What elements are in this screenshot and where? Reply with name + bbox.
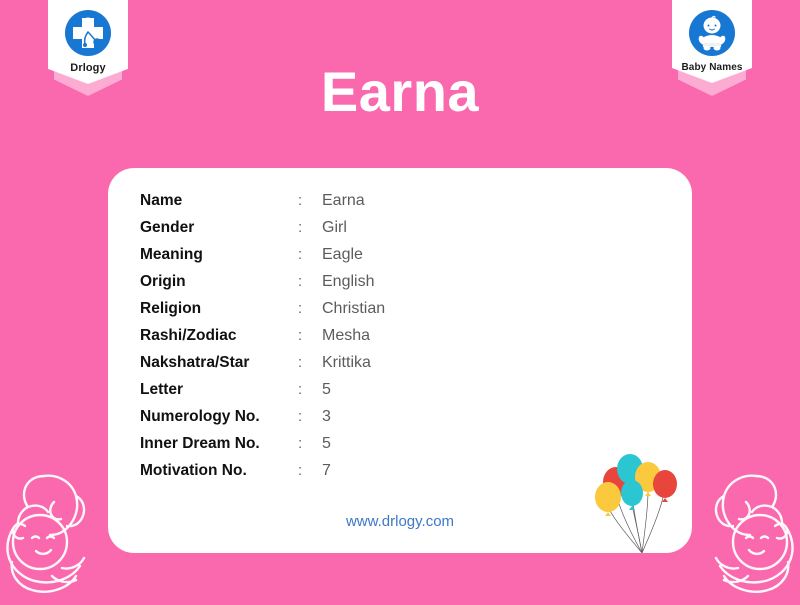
row-label: Numerology No. — [140, 403, 298, 430]
site-url-link[interactable]: www.drlogy.com — [108, 513, 692, 530]
row-label: Religion — [140, 295, 298, 322]
row-value: Girl — [322, 214, 385, 241]
name-detail-card: Name : Earna Gender : Girl Meaning : Eag… — [108, 168, 692, 553]
row-label: Letter — [140, 376, 298, 403]
row-label: Rashi/Zodiac — [140, 322, 298, 349]
row-separator: : — [298, 214, 322, 241]
balloon-red-right — [653, 470, 677, 502]
row-separator: : — [298, 376, 322, 403]
balloon-red-left — [603, 467, 629, 501]
row-value: 5 — [322, 430, 385, 457]
balloon-yellow-left — [595, 482, 621, 516]
row-separator: : — [298, 268, 322, 295]
row-value: 5 — [322, 376, 385, 403]
row-value: 3 — [322, 403, 385, 430]
name-details-table: Name : Earna Gender : Girl Meaning : Eag… — [140, 187, 385, 484]
badge-inner: Baby Names — [672, 0, 752, 83]
row-value: 7 — [322, 457, 385, 484]
table-row: Gender : Girl — [140, 214, 385, 241]
name-details-body: Name : Earna Gender : Girl Meaning : Eag… — [140, 187, 385, 484]
balloon-yellow-mid — [635, 462, 661, 496]
row-value: Mesha — [322, 322, 385, 349]
balloon-cyan-top — [617, 454, 643, 488]
row-label: Inner Dream No. — [140, 430, 298, 457]
row-label: Origin — [140, 268, 298, 295]
badge-inner: Drlogy — [48, 0, 128, 84]
table-row: Religion : Christian — [140, 295, 385, 322]
table-row: Nakshatra/Star : Krittika — [140, 349, 385, 376]
row-value: Christian — [322, 295, 385, 322]
mother-baby-icon — [0, 450, 112, 600]
brand-badge-drlogy[interactable]: Drlogy — [48, 0, 128, 84]
table-row: Numerology No. : 3 — [140, 403, 385, 430]
table-row: Origin : English — [140, 268, 385, 295]
row-value: English — [322, 268, 385, 295]
badge-label-baby-names: Baby Names — [676, 63, 748, 73]
balloon-cyan-lower — [621, 480, 643, 510]
badge-label-drlogy: Drlogy — [52, 63, 124, 74]
baby-icon — [687, 8, 737, 58]
mother-baby-line-art-left — [0, 450, 112, 600]
row-value: Eagle — [322, 241, 385, 268]
row-separator: : — [298, 322, 322, 349]
row-separator: : — [298, 349, 322, 376]
row-label: Meaning — [140, 241, 298, 268]
row-label: Name — [140, 187, 298, 214]
table-row: Meaning : Eagle — [140, 241, 385, 268]
row-value: Krittika — [322, 349, 385, 376]
brand-badge-baby-names[interactable]: Baby Names — [672, 0, 752, 83]
row-separator: : — [298, 295, 322, 322]
table-row: Inner Dream No. : 5 — [140, 430, 385, 457]
mother-baby-icon — [688, 450, 800, 600]
row-label: Motivation No. — [140, 457, 298, 484]
table-row: Letter : 5 — [140, 376, 385, 403]
balloons-illustration — [590, 449, 686, 553]
row-separator: : — [298, 457, 322, 484]
row-separator: : — [298, 430, 322, 457]
row-separator: : — [298, 241, 322, 268]
row-value: Earna — [322, 187, 385, 214]
row-separator: : — [298, 403, 322, 430]
table-row: Motivation No. : 7 — [140, 457, 385, 484]
row-label: Nakshatra/Star — [140, 349, 298, 376]
table-row: Rashi/Zodiac : Mesha — [140, 322, 385, 349]
row-separator: : — [298, 187, 322, 214]
mother-baby-line-art-right — [688, 450, 800, 600]
doctor-cross-icon — [63, 8, 113, 58]
row-label: Gender — [140, 214, 298, 241]
table-row: Name : Earna — [140, 187, 385, 214]
